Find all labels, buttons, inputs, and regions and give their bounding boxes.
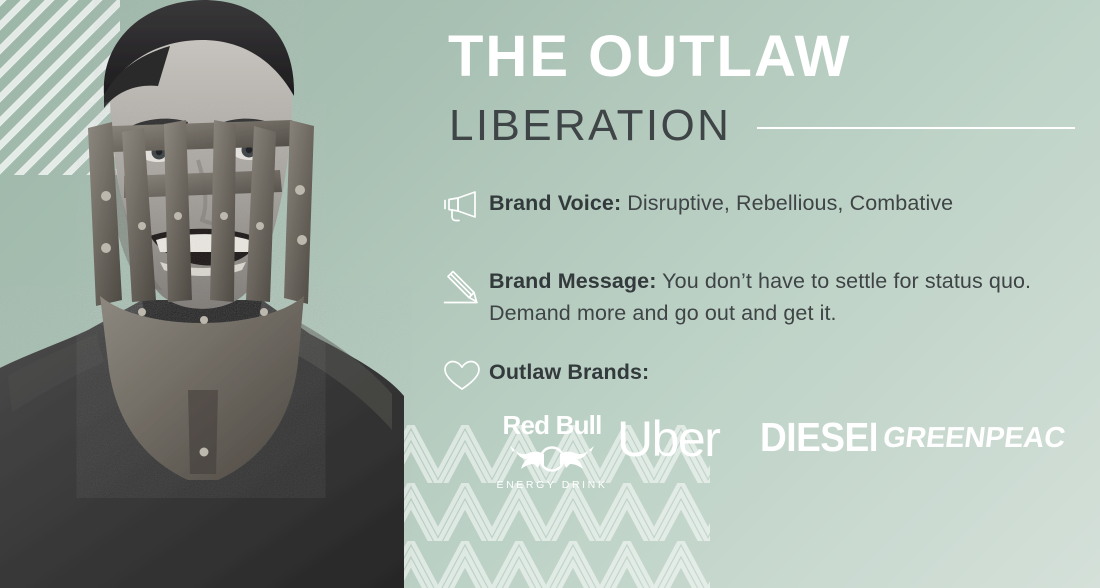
- diesel-logo: DIESEL: [757, 408, 877, 459]
- page-subtitle: LIBERATION: [449, 104, 731, 148]
- brand-voice-row: Brand Voice: Disruptive, Rebellious, Com…: [443, 188, 1077, 224]
- brand-voice-text: Brand Voice: Disruptive, Rebellious, Com…: [489, 188, 953, 220]
- heart-icon: [443, 357, 489, 393]
- outlaw-archetype-card: THE OUTLAW LIBERATION Brand Voice: D: [0, 0, 1100, 588]
- outlaw-brands-label: Outlaw Brands:: [489, 360, 649, 384]
- brand-message-label: Brand Message:: [489, 269, 656, 293]
- svg-text:GREENPEACE: GREENPEACE: [881, 422, 1066, 454]
- page-title: THE OUTLAW: [448, 28, 851, 86]
- brand-message-text: Brand Message: You don’t have to settle …: [489, 266, 1071, 330]
- outlaw-brands-row: Outlaw Brands:: [443, 357, 1077, 393]
- card-content: THE OUTLAW LIBERATION Brand Voice: D: [437, 0, 1077, 588]
- brand-message-row: Brand Message: You don’t have to settle …: [443, 266, 1071, 330]
- megaphone-icon: [443, 188, 489, 224]
- outlaw-brands-text: Outlaw Brands:: [489, 357, 649, 389]
- brand-voice-label: Brand Voice:: [489, 191, 621, 215]
- subtitle-row: LIBERATION: [449, 104, 1075, 148]
- svg-text:Uber: Uber: [617, 414, 720, 466]
- pencil-icon: [443, 266, 489, 310]
- svg-text:Red Bull: Red Bull: [502, 410, 601, 440]
- brand-logos-row: Red Bull ENERGY DRINK Uber: [492, 408, 1077, 503]
- masked-man-photo: [0, 0, 412, 588]
- horizontal-rule-icon: [757, 127, 1075, 129]
- uber-logo: Uber: [612, 408, 757, 466]
- brand-voice-value: Disruptive, Rebellious, Combative: [627, 191, 953, 215]
- greenpeace-logo: GREENPEACE: [877, 408, 1067, 459]
- svg-text:DIESEL: DIESEL: [760, 415, 876, 459]
- redbull-logo: Red Bull ENERGY DRINK: [492, 408, 612, 496]
- svg-text:ENERGY DRINK: ENERGY DRINK: [497, 479, 608, 491]
